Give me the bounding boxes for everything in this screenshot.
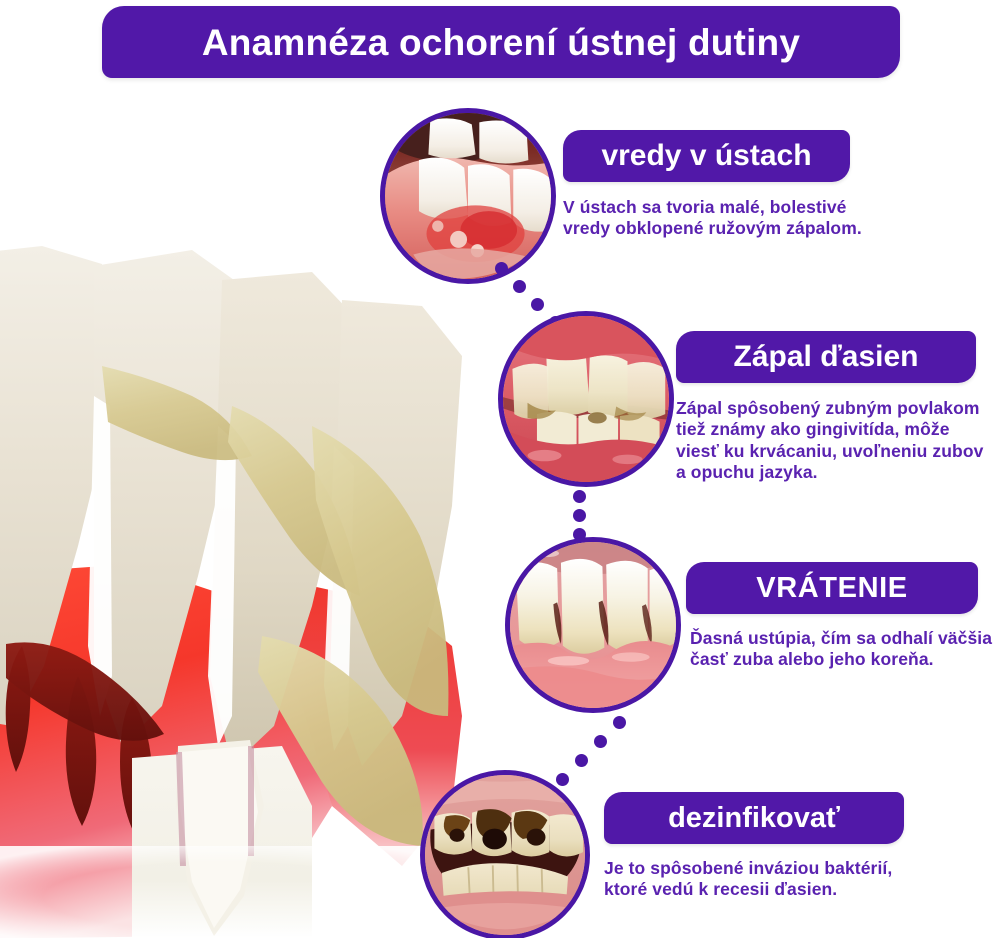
description-tooth-decay: Je to spôsobené inváziou baktérií, ktoré…	[604, 858, 892, 901]
badge-gum-recession: VRÁTENIE	[686, 562, 978, 614]
description-mouth-ulcers: V ústach sa tvoria malé, bolestivé vredy…	[563, 197, 862, 240]
photo-tooth-decay	[420, 770, 590, 938]
photo-mouth-ulcers	[380, 108, 556, 284]
photo-gum-recession	[505, 537, 681, 713]
description-gum-recession: Ďasná ustúpia, čím sa odhalí väčšia časť…	[690, 628, 992, 671]
badge-gum-inflammation: Zápal ďasien	[676, 331, 976, 383]
badge-mouth-ulcers: vredy v ústach	[563, 130, 850, 182]
connector-recession-to-decay	[555, 716, 635, 786]
description-gum-inflammation: Zápal spôsobený zubným povlakom tiež zná…	[676, 398, 983, 483]
page-title-banner: Anamnéza ochorení ústnej dutiny	[102, 6, 900, 78]
infographic-canvas: Anamnéza ochorení ústnej dutiny	[0, 0, 1000, 938]
page-title: Anamnéza ochorení ústnej dutiny	[202, 24, 800, 61]
tooth-anatomy-illustration	[0, 246, 462, 938]
photo-gum-inflammation	[498, 311, 674, 487]
badge-tooth-decay: dezinfikovať	[604, 792, 904, 844]
